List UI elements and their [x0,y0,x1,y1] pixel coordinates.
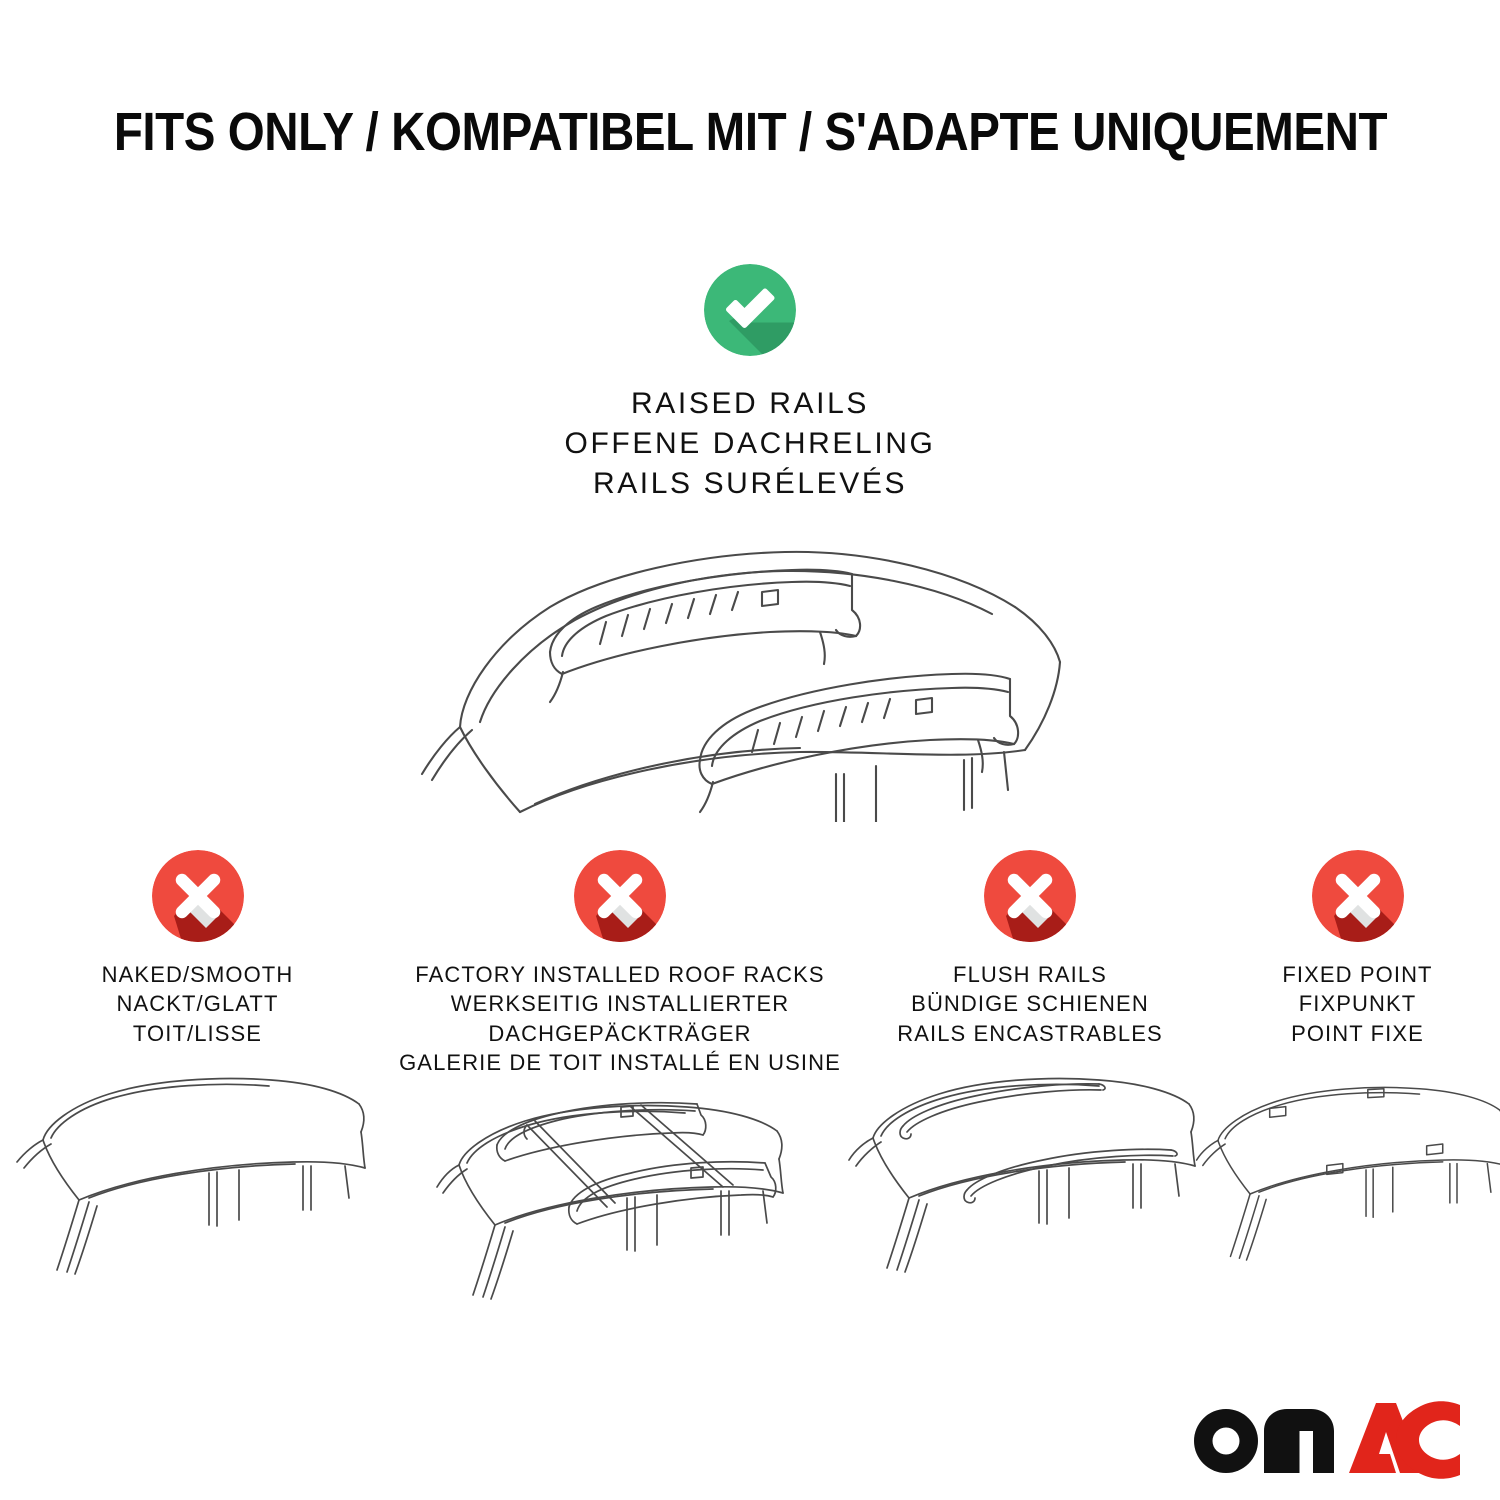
infographic-page: FITS ONLY / KOMPATIBEL MIT / S'ADAPTE UN… [0,0,1500,1500]
fixed-point-badge-wrap [1312,850,1404,942]
check-icon [704,264,796,356]
factory-racks-caption-line-4: GALERIE DE TOIT INSTALLÉ EN USINE [399,1048,841,1077]
compatible-caption: RAISED RAILS OFFENE DACHRELING RAILS SUR… [565,384,936,504]
incompatible-column-naked: NAKED/SMOOTH NACKT/GLATT TOIT/LISSE [0,850,395,1285]
cross-icon [984,850,1076,942]
car-roof-fixed-point-illustration [1193,1070,1500,1285]
car-roof-factory-racks-illustration [435,1099,805,1314]
fixed-point-caption-line-3: POINT FIXE [1282,1019,1432,1048]
flush-rails-caption: FLUSH RAILS BÜNDIGE SCHIENEN RAILS ENCAS… [897,960,1163,1048]
cross-icon [152,850,244,942]
factory-racks-caption: FACTORY INSTALLED ROOF RACKS WERKSEITIG … [399,960,841,1077]
compatible-section: RAISED RAILS OFFENE DACHRELING RAILS SUR… [0,264,1500,822]
title-bar: FITS ONLY / KOMPATIBEL MIT / S'ADAPTE UN… [0,103,1500,162]
factory-racks-caption-line-1: FACTORY INSTALLED ROOF RACKS [399,960,841,989]
naked-caption-line-3: TOIT/LISSE [102,1019,294,1048]
compatible-caption-line-1: RAISED RAILS [565,384,936,424]
incompatible-row: NAKED/SMOOTH NACKT/GLATT TOIT/LISSE [0,850,1500,1314]
fixed-point-caption-line-2: FIXPUNKT [1282,989,1432,1018]
logo-letter-m [1264,1409,1334,1473]
car-roof-raised-rails-illustration [400,522,1100,822]
flush-rails-badge-wrap [984,850,1076,942]
fixed-point-caption-line-1: FIXED POINT [1282,960,1432,989]
logo-letter-o [1194,1409,1258,1473]
factory-racks-caption-line-2: WERKSEITIG INSTALLIERTER [399,989,841,1018]
naked-caption: NAKED/SMOOTH NACKT/GLATT TOIT/LISSE [102,960,294,1048]
incompatible-column-flush-rails: FLUSH RAILS BÜNDIGE SCHIENEN RAILS ENCAS… [845,850,1215,1285]
fixed-point-caption: FIXED POINT FIXPUNKT POINT FIXE [1282,960,1432,1048]
incompatible-column-fixed-point: FIXED POINT FIXPUNKT POINT FIXE [1215,850,1500,1285]
flush-rails-caption-line-1: FLUSH RAILS [897,960,1163,989]
cross-icon [1312,850,1404,942]
naked-caption-line-2: NACKT/GLATT [102,989,294,1018]
omac-logo [1190,1396,1460,1480]
compatible-caption-line-3: RAILS SURÉLEVÉS [565,464,936,504]
cross-icon [574,850,666,942]
car-roof-naked-illustration [13,1070,383,1285]
naked-badge-wrap [152,850,244,942]
car-roof-flush-rails-illustration [845,1070,1215,1285]
compatible-caption-line-2: OFFENE DACHRELING [565,424,936,464]
factory-racks-badge-wrap [574,850,666,942]
naked-caption-line-1: NAKED/SMOOTH [102,960,294,989]
flush-rails-caption-line-3: RAILS ENCASTRABLES [897,1019,1163,1048]
factory-racks-caption-line-3: DACHGEPÄCKTRÄGER [399,1019,841,1048]
incompatible-column-factory-racks: FACTORY INSTALLED ROOF RACKS WERKSEITIG … [395,850,845,1314]
page-title: FITS ONLY / KOMPATIBEL MIT / S'ADAPTE UN… [113,103,1386,162]
flush-rails-caption-line-2: BÜNDIGE SCHIENEN [897,989,1163,1018]
compatible-badge-wrap [704,264,796,356]
